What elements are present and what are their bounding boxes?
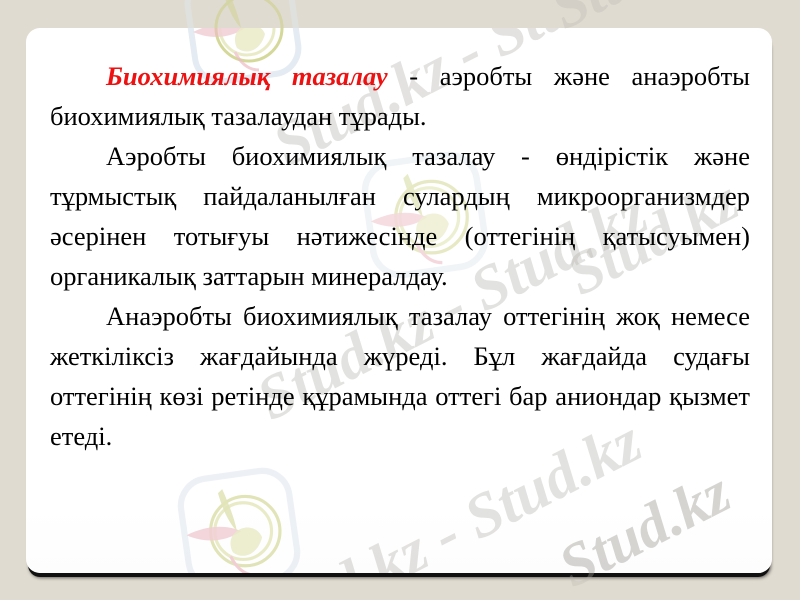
content-panel: Stud.kz - Stud.kz Stud.kz - Stud.kz Stud… [26,28,772,573]
slide-text-body: Биохимиялық тазалау - аэробты және анаэр… [50,56,750,456]
paragraph-3: Анаэробты биохимиялық тазалау оттегінің … [50,296,750,456]
paragraph-2: Аэробты биохимиялық тазалау - өндірістік… [50,136,750,296]
slide-canvas: Stud.kz - Stud.kz Stud.kz - Stud.kz Stud… [0,0,800,600]
stud-kz-bird-logo [176,466,302,573]
watermark-text: Stud.kz [548,457,741,573]
paragraph-1: Биохимиялық тазалау - аэробты және анаэр… [50,56,750,136]
watermark-text: Stud.kz [540,28,733,43]
highlight-term: Биохимиялық тазалау [106,61,388,91]
